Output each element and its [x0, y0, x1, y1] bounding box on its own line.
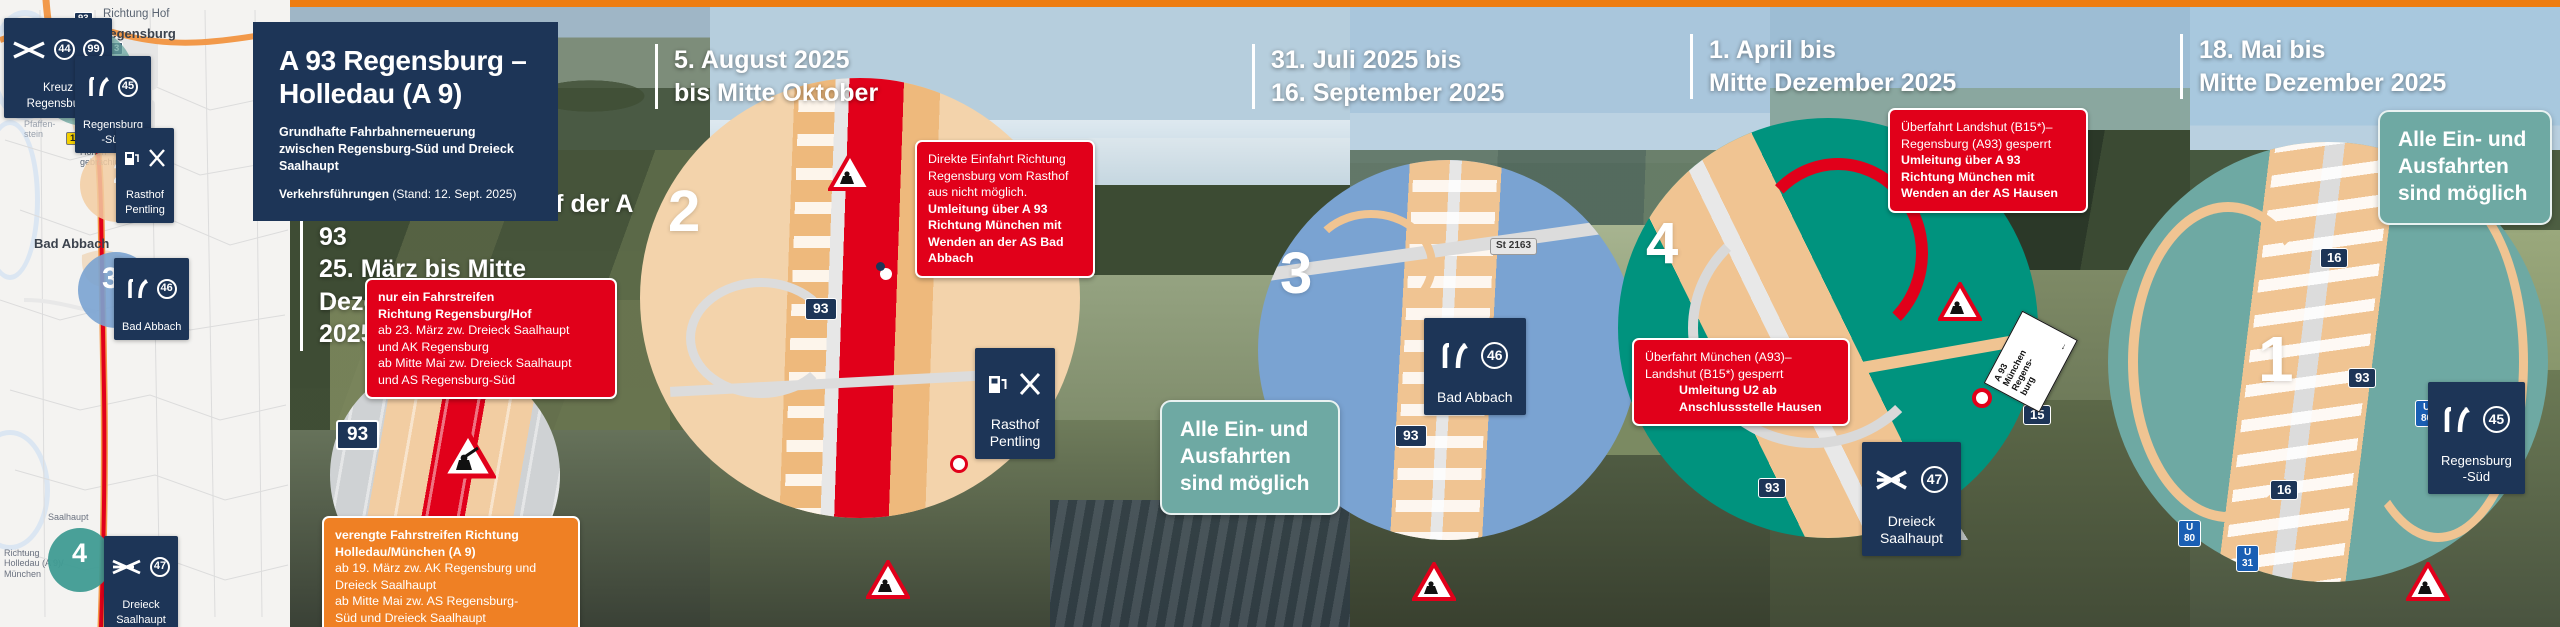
ausfahrt-icon: [1441, 343, 1469, 369]
callout-line: Umleitung über A 93: [1901, 152, 2075, 169]
rasthof-glyph-row: [124, 149, 166, 167]
node-number-47: 47: [1921, 466, 1948, 493]
sign-bad-abbach-p3-label: Bad Abbach: [1437, 389, 1513, 405]
cutlery-icon: [148, 149, 166, 167]
node-number-44: 44: [54, 39, 75, 60]
fuel-pump-icon: [988, 372, 1008, 396]
callout-line: Wenden an der AS Bad: [928, 234, 1082, 251]
panel-4-closure-dot: [1972, 388, 1992, 408]
sign-bad-abbach-p3[interactable]: 46 Bad Abbach: [1424, 318, 1526, 415]
sign-dreieck-saalhaupt-p4[interactable]: 47 Dreieck Saalhaupt: [1862, 442, 1961, 556]
callout-line: Überfahrt München (A93)–: [1645, 349, 1837, 366]
ausfahrt-glyph-row-p3: 46: [1437, 342, 1513, 369]
page-subtitle: Grundhafte Fahrbahnerneuerung zwischen R…: [279, 124, 532, 175]
callout-line: ab Mitte Mai zw. Dreieck Saalhaupt: [378, 355, 604, 372]
overview-map[interactable]: 1 2 3 4 Richtung Hof Regensburg Pentling…: [0, 0, 290, 627]
panel-5-big-note: Alle Ein- und Ausfahrten sind möglich: [2378, 110, 2552, 225]
panel-5-shield-93: 93: [2348, 368, 2376, 388]
sign-rasthof-pentling-label: Rasthof Pentling: [125, 189, 165, 216]
map-label-bad-abbach: Bad Abbach: [34, 236, 109, 251]
node-number-46: 46: [1481, 342, 1508, 369]
roadworks-sign-p2-bottom: [866, 560, 910, 600]
panel-3-big-note: Alle Ein- und Ausfahrten sind möglich: [1160, 400, 1340, 515]
callout-line: Umleitung über A 93: [928, 201, 1082, 218]
sign-rasthof-pentling-p2[interactable]: Rasthof Pentling: [975, 348, 1055, 459]
rasthof-glyph-row-p2: [988, 372, 1042, 396]
callout-line: Richtung München mit: [928, 217, 1082, 234]
panel-overview-shield-93: 93: [336, 420, 379, 450]
roadworks-sign-p3: [1412, 562, 1456, 602]
panel-5-shield-16-bottom: 16: [2270, 480, 2298, 500]
callout-line: Anschlussstelle Hausen: [1679, 399, 1837, 416]
ausfahrt-glyph-row: 45: [83, 77, 143, 97]
panel-3-shield-st2163: St 2163: [1490, 238, 1537, 255]
dreieck-glyph-row: 47: [112, 557, 170, 577]
panel-2-header: 5. August 2025 bis Mitte Oktober: [655, 44, 985, 109]
panel-4-shield-93: 93: [1758, 478, 1786, 498]
callout-line: verengte Fahrstreifen Richtung: [335, 527, 567, 544]
ausfahrt-glyph-row-p5: 45: [2441, 406, 2512, 433]
dreieck-glyph-row-p4: 47: [1875, 466, 1948, 493]
callout-line: Regensburg vom Rasthof: [928, 168, 1082, 185]
callout-line: Abbach: [928, 250, 1082, 267]
callout-detour-block: Umleitung U2 ab Anschlussstelle Hausen: [1645, 382, 1837, 415]
panel-5-header: 18. Mai bis Mitte Dezember 2025: [2180, 34, 2520, 99]
ausfahrt-icon: [127, 279, 149, 299]
panel-5-circle-number: 1: [2258, 322, 2294, 396]
callout-line: ab 23. März zw. Dreieck Saalhaupt: [378, 322, 604, 339]
sign-dreieck-saalhaupt-label: Dreieck Saalhaupt: [116, 599, 166, 626]
callout-line: Dreieck Saalhaupt: [335, 577, 567, 594]
roadworks-sign-p2-top: [828, 152, 872, 192]
sign-rasthof-pentling-map[interactable]: Rasthof Pentling: [116, 128, 174, 223]
sign-dreieck-saalhaupt-p4-label: Dreieck Saalhaupt: [1880, 513, 1943, 546]
stand-value: (Stand: 12. Sept. 2025): [389, 187, 516, 201]
callout-line: nur ein Fahrstreifen: [378, 289, 604, 306]
accent-top-rule: [290, 0, 2560, 7]
map-label-pfaffenstein: Pfaffen-stein: [24, 120, 55, 140]
node-number-47: 47: [150, 557, 170, 577]
callout-line: Holledau/München (A 9): [335, 544, 567, 561]
callout-ueberfahrt-muenchen[interactable]: Überfahrt München (A93)– Landshut (B15*)…: [1632, 338, 1850, 426]
callout-line: und AK Regensburg: [378, 339, 604, 356]
panel-5-shield-u31: U31: [2236, 545, 2259, 572]
node-number-45: 45: [118, 77, 138, 97]
panel-2-node-dot: [876, 262, 885, 271]
sign-dreieck-saalhaupt-map[interactable]: 47 Dreieck Saalhaupt: [104, 536, 178, 627]
callout-line: aus nicht möglich.: [928, 184, 1082, 201]
panel-2-shield-93: 93: [805, 298, 837, 320]
map-label-richtung-hof: Richtung Hof: [103, 8, 169, 20]
roadworks-sign-p4: [1938, 282, 1982, 322]
ausfahrt-icon: [2443, 407, 2471, 433]
callout-line: Richtung München mit: [1901, 169, 2075, 186]
callout-nur-ein-fahrstreifen[interactable]: nur ein Fahrstreifen Richtung Regensburg…: [365, 278, 617, 399]
panel-3-header: 31. Juli 2025 bis 16. September 2025: [1252, 44, 1582, 109]
page-title: A 93 Regensburg – Holledau (A 9): [279, 44, 532, 110]
node-number-45: 45: [2483, 406, 2510, 433]
callout-line: Landshut (B15*) gesperrt: [1645, 366, 1837, 383]
roadworks-sign-overview: [440, 430, 496, 480]
sign-regensburg-sued-p5-label: Regensburg -Süd: [2441, 453, 2512, 484]
panel-5-shield-16-top: 16: [2320, 248, 2348, 268]
ausfahrt-glyph-row-2: 46: [122, 279, 181, 299]
stand-label: Verkehrsführungen: [279, 187, 389, 201]
sign-rasthof-pentling-p2-label: Rasthof Pentling: [990, 416, 1041, 449]
callout-line: ab Mitte Mai zw. AS Regensburg-: [335, 593, 567, 610]
roadworks-sign-p5: [2406, 562, 2450, 602]
panel-4-circle-number: 4: [1646, 210, 1678, 277]
callout-line: Richtung Regensburg/Hof: [378, 306, 604, 323]
sign-bad-abbach-map[interactable]: 46 Bad Abbach: [114, 258, 189, 340]
map-circle-4-number: 4: [72, 538, 87, 569]
callout-line: und AS Regensburg-Süd: [378, 372, 604, 389]
node-number-46: 46: [157, 279, 177, 299]
map-label-saalhaupt: Saalhaupt: [48, 512, 89, 522]
panel-2-restriction-dot-b: [950, 455, 968, 473]
callout-ueberfahrt-landshut[interactable]: Überfahrt Landshut (B15*)– Regensburg (A…: [1888, 108, 2088, 213]
infographic-root: 1 2 3 4 Richtung Hof Regensburg Pentling…: [0, 0, 2560, 627]
panel-5-shield-u80-a: U80: [2178, 520, 2201, 547]
callout-verengte-fahrstreifen[interactable]: verengte Fahrstreifen Richtung Holledau/…: [322, 516, 580, 627]
callout-line: Umleitung U2 ab: [1679, 382, 1837, 399]
callout-line: Überfahrt Landshut (B15*)–: [1901, 119, 2075, 136]
stand-line: Verkehrsführungen (Stand: 12. Sept. 2025…: [279, 187, 532, 201]
sign-regensburg-sued-p5[interactable]: 45 Regensburg -Süd: [2428, 382, 2525, 494]
panel-2-circle-number: 2: [668, 178, 700, 245]
ausfahrt-icon: [88, 77, 110, 97]
callout-line: Direkte Einfahrt Richtung: [928, 151, 1082, 168]
autobahndreieck-icon: [1875, 468, 1909, 492]
callout-line: Süd und Dreieck Saalhaupt: [335, 610, 567, 627]
panel-4-header: 1. April bis Mitte Dezember 2025: [1690, 34, 2030, 99]
autobahndreieck-icon: [112, 558, 142, 576]
fuel-pump-icon: [124, 149, 140, 167]
title-block: A 93 Regensburg – Holledau (A 9) Grundha…: [253, 22, 558, 221]
sign-bad-abbach-label: Bad Abbach: [122, 321, 181, 333]
callout-direkte-einfahrt[interactable]: Direkte Einfahrt Richtung Regensburg vom…: [915, 140, 1095, 278]
panel-3-circle-number: 3: [1280, 240, 1312, 307]
callout-line: Regensburg (A93) gesperrt: [1901, 136, 2075, 153]
cutlery-icon: [1018, 372, 1042, 396]
callout-line: ab 19. März zw. AK Regensburg und: [335, 560, 567, 577]
autobahnkreuz-icon: [12, 40, 46, 60]
panel-3-shield-93: 93: [1395, 425, 1427, 447]
callout-line: Wenden an der AS Hausen: [1901, 185, 2075, 202]
